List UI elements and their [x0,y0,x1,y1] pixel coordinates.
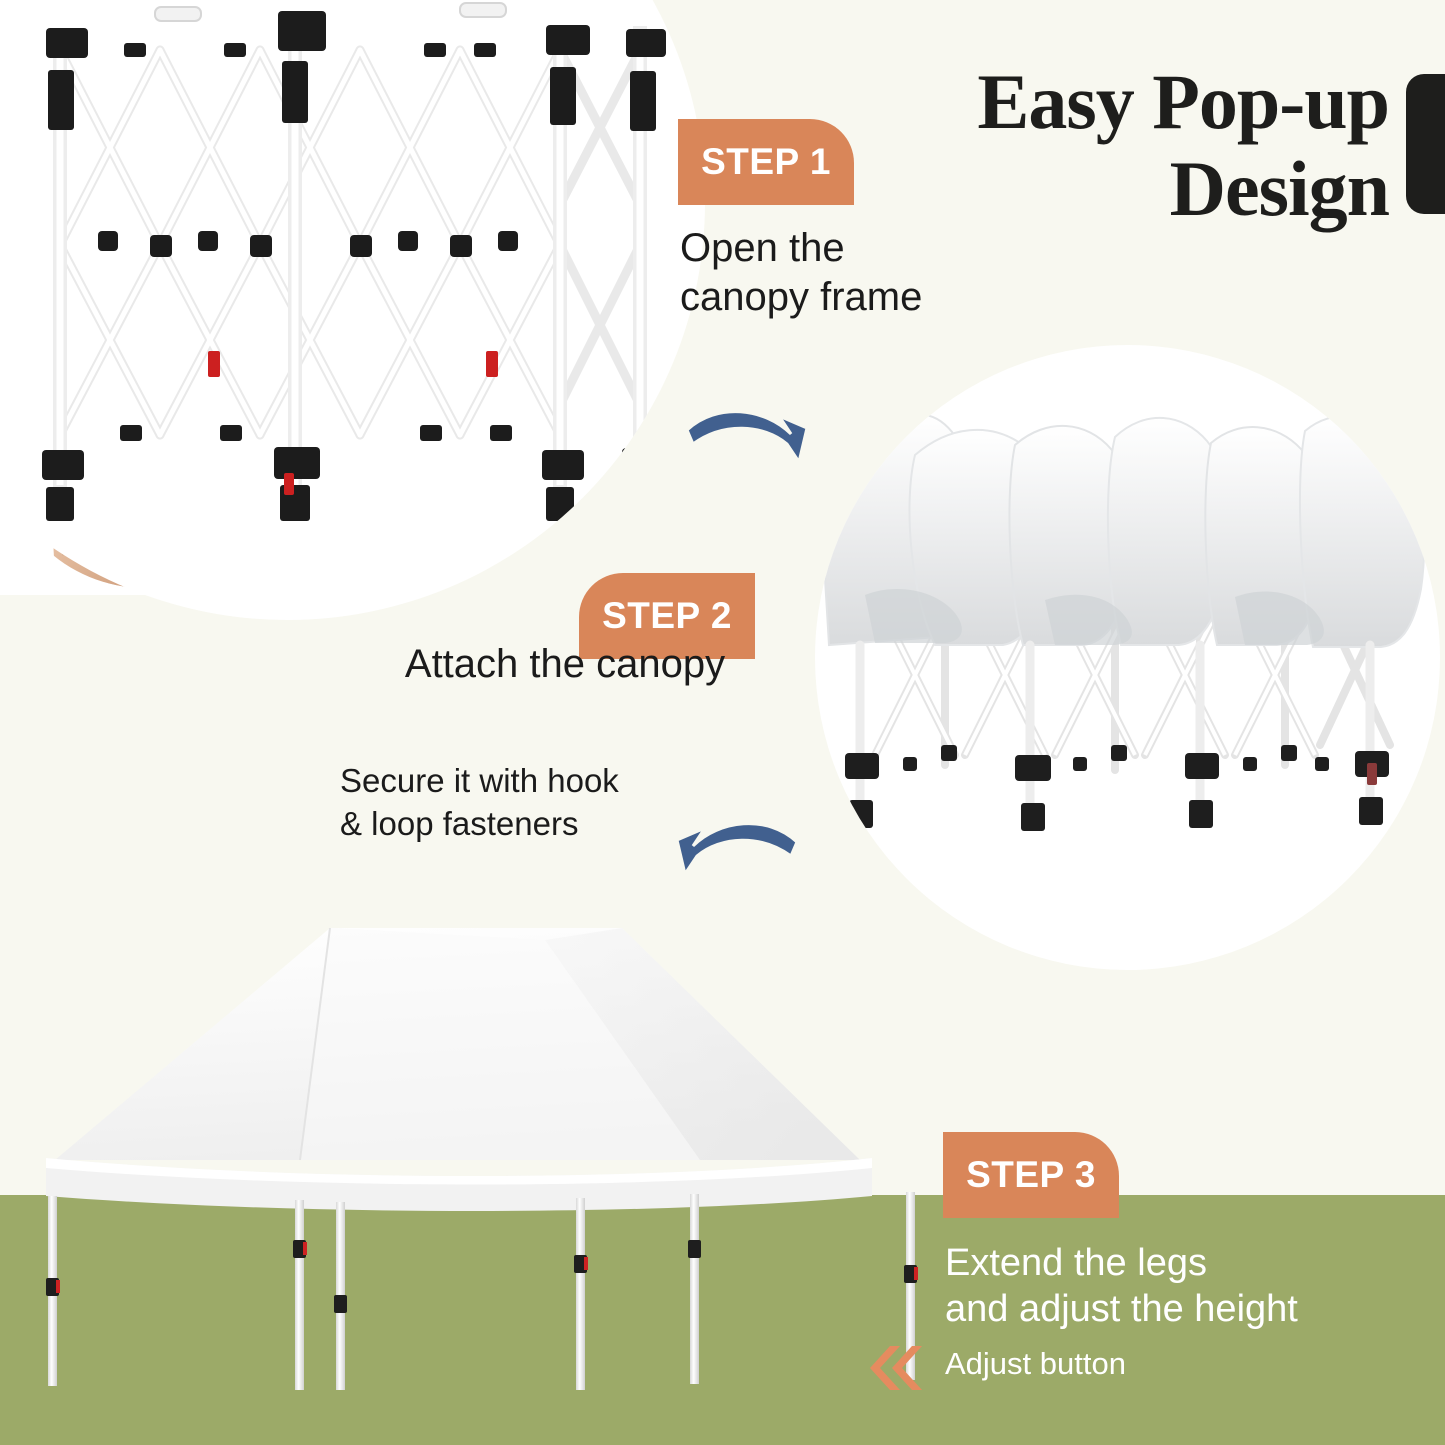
step-1-title: Open the canopy frame [680,224,1010,322]
step-2-subtitle-line-2: & loop fasteners [340,803,700,846]
step-2-main-image [815,345,1440,970]
bundled-canopy-illustration [815,345,1440,970]
infographic-canvas: Easy Pop-up Design [0,0,1445,1445]
step-3-title-line-1: Extend the legs [945,1240,1415,1286]
step-1-title-line-2: canopy frame [680,273,1010,322]
curved-arrow-right-icon [683,400,823,482]
step-2-subtitle: Secure it with hook & loop fasteners [340,760,700,846]
step-3-title: Extend the legs and adjust the height [945,1240,1415,1333]
step-3-main-image [0,910,960,1390]
double-chevron-left-icon [860,1344,922,1392]
step-2-badge-label: STEP 2 [602,595,732,637]
step-2-title: Attach the canopy [330,640,800,689]
step-3-title-line-2: and adjust the height [945,1286,1415,1332]
step-1-badge-label: STEP 1 [701,141,831,183]
headline-decoration-bar [1406,74,1445,214]
step-2-subtitle-line-1: Secure it with hook [340,760,700,803]
step-1-badge: STEP 1 [678,119,854,205]
step-3-caption: Adjust button [945,1345,1275,1383]
curved-arrow-left-icon [661,812,801,894]
page-title-line-1: Easy Pop-up [749,58,1389,145]
canopy-frame-illustration [0,0,705,620]
step-1-title-line-1: Open the [680,224,1010,273]
step-3-badge: STEP 3 [943,1132,1119,1218]
step-1-image [0,0,705,620]
step-3-badge-label: STEP 3 [966,1154,1096,1196]
